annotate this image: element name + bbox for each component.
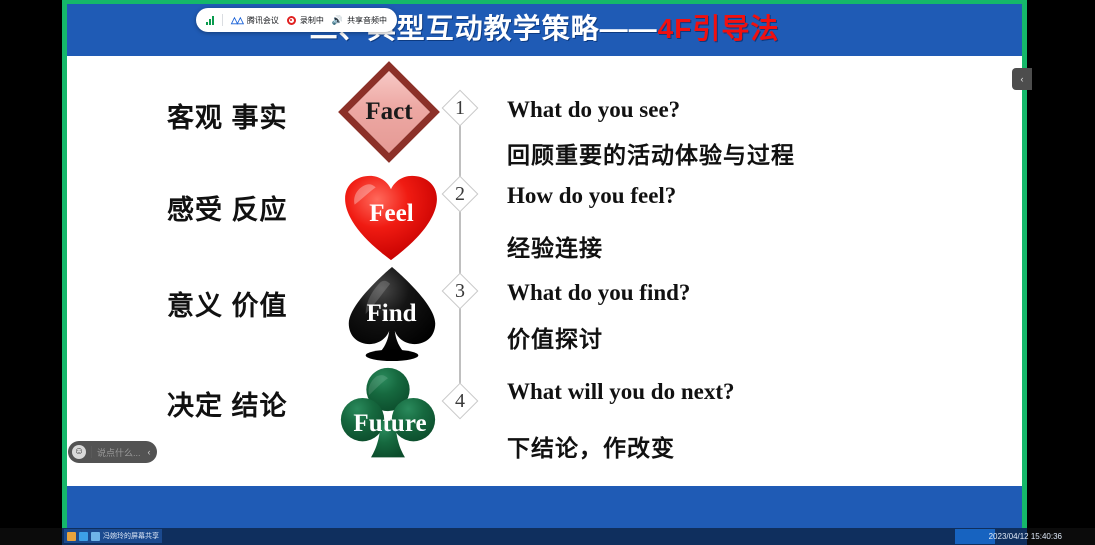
step-number-1-text: 1 [443, 91, 477, 125]
recording-indicator[interactable]: 录制中 [287, 15, 324, 26]
question-cn-2: 经验连接 [507, 229, 603, 263]
diamond-icon [338, 61, 440, 163]
club-icon [339, 364, 437, 464]
person-icon [67, 532, 76, 541]
recording-dot-icon [287, 16, 296, 25]
row-label-fact: 客观 事实 [167, 96, 288, 135]
meeting-app-label[interactable]: △△ 腾讯会议 [231, 15, 279, 26]
microphone-icon [91, 532, 100, 541]
taskbar-strip [62, 528, 1027, 545]
question-cn-1: 回顾重要的活动体验与过程 [507, 136, 795, 170]
network-signal-indicator[interactable] [206, 16, 214, 25]
question-en-3: What do you find? [507, 280, 690, 306]
taskbar-item-screen-share[interactable]: 冯婉玲的屏幕共享 [64, 529, 162, 543]
chat-input-placeholder[interactable]: 说点什么... [97, 446, 141, 459]
taskbar-item-label: 冯婉玲的屏幕共享 [103, 531, 159, 541]
step-number-1: 1 [443, 91, 477, 125]
question-en-2: How do you feel? [507, 183, 676, 209]
toolbar-divider [222, 14, 223, 26]
monitor-icon [79, 532, 88, 541]
heart-icon [343, 174, 439, 262]
chevron-left-icon[interactable]: ‹ [146, 447, 153, 457]
meeting-toolbar[interactable]: △△ 腾讯会议 录制中 🔊 共享音频中 [196, 8, 397, 32]
chat-pill-divider [91, 446, 92, 458]
row-label-future: 决定 结论 [167, 384, 288, 423]
recording-label: 录制中 [300, 15, 324, 26]
step-number-3-text: 3 [443, 274, 477, 308]
chat-input-pill[interactable]: ☺ 说点什么... ‹ [68, 441, 157, 463]
spade-icon [345, 264, 439, 364]
symbol-diamond-fact: Fact [339, 62, 439, 162]
row-label-feel: 感受 反应 [167, 188, 288, 227]
row-label-find: 意义 价值 [167, 284, 288, 323]
question-en-1: What do you see? [507, 97, 680, 123]
step-number-4-text: 4 [443, 384, 477, 418]
presentation-slide: 二、典型互动教学策略——4F引导法 客观 事实 Fact 1 What do y… [67, 4, 1022, 528]
audio-share-indicator[interactable]: 🔊 共享音频中 [332, 15, 387, 26]
speaker-icon: 🔊 [332, 15, 343, 26]
step-number-2: 2 [443, 177, 477, 211]
timeline-connector [459, 108, 461, 408]
taskbar-clock-text: 2023/04/12 15:40:36 [989, 532, 1062, 541]
question-cn-3: 价值探讨 [507, 320, 603, 354]
chevron-left-icon: ‹ [1021, 74, 1024, 84]
screen: 二、典型互动教学策略——4F引导法 客观 事实 Fact 1 What do y… [0, 0, 1095, 545]
slide-title-accent: 4F引导法 [658, 13, 780, 44]
signal-bars-icon [206, 16, 214, 25]
symbol-heart-feel: Feel [339, 166, 444, 266]
slide-bottom-band [67, 486, 1022, 528]
tencent-meeting-logo-icon: △△ [231, 15, 243, 26]
meeting-app-name: 腾讯会议 [247, 15, 279, 26]
panel-collapse-tab[interactable]: ‹ [1012, 68, 1032, 90]
question-en-4: What will you do next? [507, 379, 734, 405]
audio-share-label: 共享音频中 [347, 15, 387, 26]
taskbar-clock[interactable]: 2023/04/12 15:40:36 [989, 529, 1062, 543]
symbol-spade-find: Find [339, 262, 444, 367]
symbol-club-future: Future [335, 362, 445, 470]
step-number-2-text: 2 [443, 177, 477, 211]
step-number-3: 3 [443, 274, 477, 308]
smiley-face-icon[interactable]: ☺ [72, 445, 86, 459]
step-number-4: 4 [443, 384, 477, 418]
question-cn-4: 下结论，作改变 [507, 429, 675, 463]
